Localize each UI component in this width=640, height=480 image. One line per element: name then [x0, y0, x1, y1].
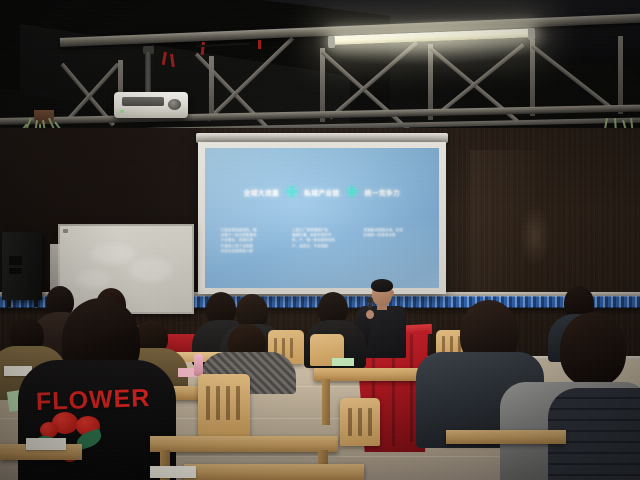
slide-body-line: 产、运结合，平台赋能: [292, 244, 352, 249]
speaker-grill-lower: [9, 268, 22, 274]
tube-end-cap: [328, 36, 335, 48]
speaker-leg: [34, 300, 38, 307]
slide-column-1: 打造全域流量矩阵，解 决客户一站式获客需求 平台整合，资源共享 打通线上线下全链…: [221, 228, 281, 254]
whiteboard: [58, 224, 194, 314]
slide-column-2: 上游工厂到终端用户全 链路打通，去除中间环节 供、产、销一体化服务体系 产、运结…: [292, 228, 352, 254]
slide-heading-2: 私域产业链: [304, 187, 340, 197]
table-drape-fold: [410, 334, 413, 442]
slide-columns: 打造全域流量矩阵，解 决客户一站式获客需求 平台整合，资源共享 打通线上线下全链…: [205, 228, 439, 254]
attendee-head: [560, 312, 626, 386]
chair-slat: [236, 386, 240, 420]
projection-screen: 全域大流量 私域产业链 统一竞争力 打造全域流量矩阵，解 决客户一站式获客需求 …: [205, 148, 439, 288]
presenter-ear: [390, 290, 394, 296]
presenter-hand: [366, 310, 374, 319]
seminar-room-photo: 全域大流量 私域产业链 统一竞争力 打造全域流量矩阵，解 决客户一站式获客需求 …: [0, 0, 640, 480]
whiteboard-clip: [63, 229, 68, 233]
screen-vignette: [205, 148, 439, 288]
tube-end-cap: [528, 28, 535, 40]
whiteboard-smudge: [90, 244, 136, 264]
chair-slat: [348, 408, 352, 436]
chair-slat: [358, 408, 362, 436]
slide-heading-3: 统一竞争力: [365, 187, 401, 197]
whiteboard-smudge: [76, 270, 110, 288]
slide-heading-row: 全域大流量 私域产业链 统一竞争力: [205, 186, 439, 197]
chair-slat: [290, 338, 293, 358]
whiteboard-smudge: [130, 258, 172, 282]
desk: [150, 436, 338, 452]
paper-sheet: [26, 438, 66, 450]
truss-vertical: [530, 40, 535, 116]
slide-body-line: 区域统一的竞争优势: [363, 233, 423, 238]
slide-heading-1: 全域大流量: [244, 187, 280, 197]
projector-vent: [122, 97, 164, 106]
speaker-grill: [9, 256, 22, 265]
slide-body-line: 内容化运营精准人群: [221, 249, 281, 254]
plus-icon: [347, 186, 358, 197]
desk: [446, 430, 566, 444]
chair-slat: [226, 386, 230, 420]
desk: [184, 464, 364, 480]
slide-column-3: 资源聚合抱团出海，形成 区域统一的竞争优势: [363, 228, 423, 254]
chair-slat: [206, 386, 210, 420]
wall-light-spot: [520, 206, 550, 266]
chair-slat: [368, 408, 372, 436]
speaker-leg: [7, 300, 11, 307]
truss-vertical: [618, 36, 623, 114]
microphone-head: [367, 297, 373, 303]
paper-sheet: [150, 466, 196, 478]
green-handout: [332, 358, 354, 366]
truss-vertical: [209, 56, 214, 120]
desk-leg: [322, 379, 330, 425]
projector-indicator-led: [120, 110, 124, 113]
chair-slat: [216, 386, 220, 420]
jacket-flower-text: FLOWER: [36, 386, 149, 415]
cable-tie: [258, 40, 261, 49]
projector-lens: [168, 99, 181, 110]
plus-icon: [286, 186, 297, 197]
loudspeaker-cabinet: [2, 232, 42, 300]
drink-bottle: [194, 354, 203, 376]
